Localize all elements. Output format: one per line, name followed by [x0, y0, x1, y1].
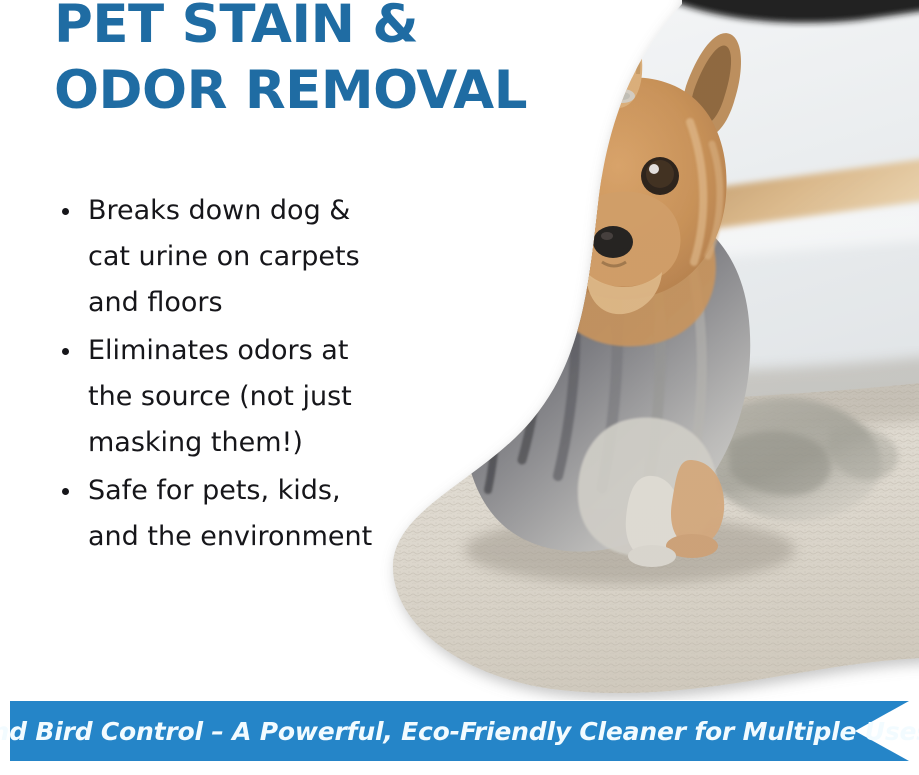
bullet-dot-icon [62, 348, 69, 355]
bullet-dot-icon [62, 488, 69, 495]
list-item: Eliminates odors at the source (not just… [54, 328, 384, 466]
product-infographic: PET STAIN & ODOR REMOVAL Breaks down dog… [0, 0, 919, 775]
headline-line-2: ODOR REMOVAL [54, 58, 654, 124]
list-item: Breaks down dog & cat urine on carpets a… [54, 188, 384, 326]
tagline-banner: Beyond Bird Control – A Powerful, Eco-Fr… [10, 701, 909, 761]
feature-bullet-list: Breaks down dog & cat urine on carpets a… [54, 188, 384, 562]
bullet-text: Safe for pets, kids, and the environment [88, 475, 372, 552]
headline-line-1: PET STAIN & [54, 0, 654, 58]
bullet-dot-icon [62, 208, 69, 215]
page-title: PET STAIN & ODOR REMOVAL [54, 0, 654, 124]
bullet-text: Breaks down dog & cat urine on carpets a… [88, 195, 360, 318]
tagline-text: Beyond Bird Control – A Powerful, Eco-Fr… [10, 701, 855, 761]
bullet-text: Eliminates odors at the source (not just… [88, 335, 352, 458]
list-item: Safe for pets, kids, and the environment [54, 468, 384, 560]
